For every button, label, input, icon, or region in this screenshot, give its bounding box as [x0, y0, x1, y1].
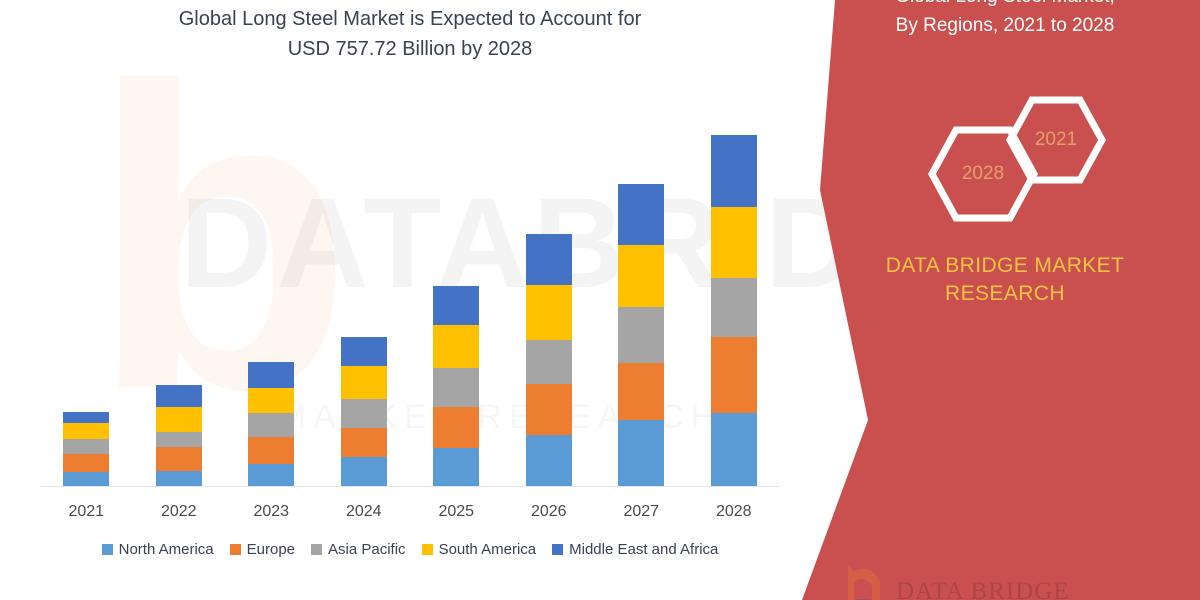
bar-segment — [526, 435, 572, 486]
bar-column-2023 — [248, 362, 294, 486]
bar-segment — [63, 439, 109, 454]
hexagon-badge-end-year-label: 2021 — [1035, 129, 1077, 151]
legend-item[interactable]: Asia Pacific — [311, 541, 406, 558]
brand-name-line-1: DATA BRIDGE MARKET — [810, 252, 1200, 280]
x-axis-tick-2027: 2027 — [596, 503, 686, 521]
x-axis-tick-2025: 2025 — [411, 503, 501, 521]
page-title-line-1: Global Long Steel Market is Expected to … — [100, 4, 720, 34]
bar-segment — [248, 362, 294, 388]
bar-segment — [156, 432, 202, 447]
legend-item[interactable]: North America — [102, 541, 214, 558]
hexagon-badge-end-year: 2021 — [1006, 96, 1106, 184]
bar-segment — [156, 447, 202, 471]
bar-segment — [433, 448, 479, 486]
panel-heading: Global Long Steel Market, By Regions, 20… — [820, 0, 1190, 40]
bar-segment — [618, 245, 664, 307]
panel-heading-line-2: By Regions, 2021 to 2028 — [820, 11, 1190, 40]
bar-segment — [248, 388, 294, 413]
legend-swatch-icon — [422, 544, 433, 555]
bar-segment — [618, 307, 664, 363]
bar-segment — [618, 420, 664, 486]
bar-segment — [526, 234, 572, 285]
legend-item-label: Europe — [247, 541, 295, 558]
legend-item-label: South America — [439, 541, 537, 558]
brand-name: DATA BRIDGE MARKET RESEARCH — [810, 252, 1200, 308]
bar-segment — [526, 384, 572, 435]
bar-segment — [156, 407, 202, 432]
page-title-line-2: USD 757.72 Billion by 2028 — [100, 34, 720, 64]
bar-segment — [63, 423, 109, 439]
legend-swatch-icon — [552, 544, 563, 555]
bar-column-2024 — [341, 337, 387, 486]
chart-legend: North AmericaEuropeAsia PacificSouth Ame… — [40, 541, 780, 558]
bar-segment — [63, 454, 109, 472]
bar-segment — [433, 368, 479, 407]
bar-segment — [711, 337, 757, 413]
legend-swatch-icon — [311, 544, 322, 555]
bar-segment — [711, 413, 757, 486]
bar-segment — [711, 135, 757, 207]
bar-column-2027 — [618, 184, 664, 486]
bar-segment — [526, 285, 572, 340]
x-axis-tick-2026: 2026 — [504, 503, 594, 521]
chart-area: b DATABRIDGE MARKET RESEARCH Global Long… — [0, 0, 820, 600]
bar-segment — [433, 325, 479, 368]
legend-item[interactable]: Europe — [230, 541, 295, 558]
bridge-logo-icon — [840, 560, 886, 600]
bar-segment — [711, 278, 757, 337]
bar-segment — [341, 337, 387, 366]
bar-column-2025 — [433, 286, 479, 486]
legend-item[interactable]: South America — [422, 541, 537, 558]
brand-name-line-2: RESEARCH — [810, 280, 1200, 308]
brand-panel: Global Long Steel Market, By Regions, 20… — [780, 0, 1200, 600]
bar-segment — [156, 471, 202, 486]
bar-segment — [526, 340, 572, 384]
x-axis-line — [40, 486, 780, 487]
legend-item[interactable]: Middle East and Africa — [552, 541, 718, 558]
bar-segment — [618, 363, 664, 420]
bar-column-2021 — [63, 412, 109, 486]
bar-segment — [63, 472, 109, 486]
legend-swatch-icon — [102, 544, 113, 555]
legend-item-label: North America — [119, 541, 214, 558]
bar-segment — [341, 428, 387, 457]
bar-segment — [248, 437, 294, 464]
footer-logo-text: DATA BRIDGE — [896, 578, 1070, 600]
panel-heading-line-1: Global Long Steel Market, — [820, 0, 1190, 11]
bar-segment — [341, 457, 387, 486]
footer-logo: DATA BRIDGE — [840, 556, 1090, 600]
page-title: Global Long Steel Market is Expected to … — [100, 4, 720, 64]
hexagon-year-badges: 2028 2021 — [928, 96, 1118, 216]
bar-segment — [156, 385, 202, 407]
bar-segment — [618, 184, 664, 245]
x-axis-tick-2021: 2021 — [41, 503, 131, 521]
infographic-root: b DATABRIDGE MARKET RESEARCH Global Long… — [0, 0, 1200, 600]
bar-column-2028 — [711, 135, 757, 486]
bar-segment — [248, 464, 294, 486]
bar-segment — [248, 413, 294, 437]
bar-segment — [63, 412, 109, 423]
bar-segment — [341, 399, 387, 428]
legend-item-label: Middle East and Africa — [569, 541, 718, 558]
bar-segment — [433, 286, 479, 325]
bar-segment — [341, 366, 387, 399]
hexagon-badge-start-year-label: 2028 — [962, 163, 1004, 185]
x-axis-tick-2023: 2023 — [226, 503, 316, 521]
legend-item-label: Asia Pacific — [328, 541, 406, 558]
legend-swatch-icon — [230, 544, 241, 555]
x-axis-tick-2028: 2028 — [689, 503, 779, 521]
bar-segment — [433, 407, 479, 448]
x-axis-tick-2024: 2024 — [319, 503, 409, 521]
brand-panel-inner: Global Long Steel Market, By Regions, 20… — [780, 0, 1200, 600]
bar-segment — [711, 207, 757, 278]
bar-column-2026 — [526, 234, 572, 486]
x-axis-tick-2022: 2022 — [134, 503, 224, 521]
footer-logo-mark-icon — [840, 560, 886, 600]
bar-column-2022 — [156, 385, 202, 486]
